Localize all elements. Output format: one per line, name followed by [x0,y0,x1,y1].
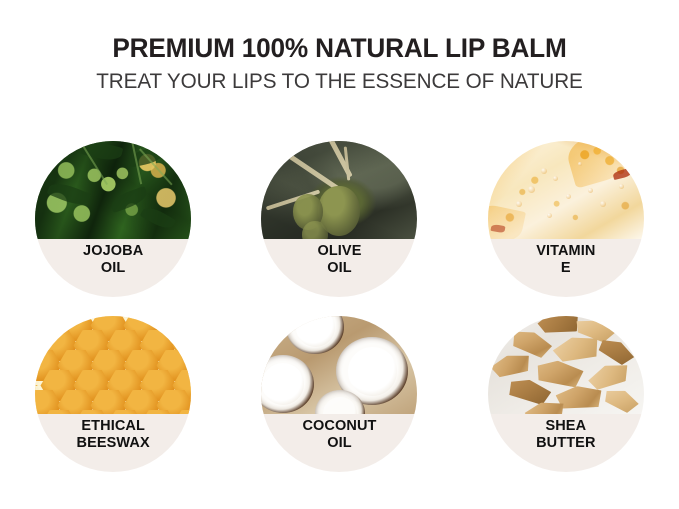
ingredient-badge-jojoba-oil: JOJOBA OIL [35,141,191,297]
jojoba-plant-photo [35,141,191,239]
ingredient-cell-olive-oil: OLIVE OIL [226,141,452,316]
ingredient-badge-vitamin-e: VITAMIN E [488,141,644,297]
ingredient-label-ethical-beeswax: ETHICAL BEESWAX [35,414,191,473]
shea-butter-chunks-photo [488,316,644,414]
ingredient-label-line2: BUTTER [536,435,595,453]
ingredient-badge-olive-oil: OLIVE OIL [261,141,417,297]
ingredient-cell-vitamin-e: VITAMIN E [453,141,679,316]
ingredient-cell-jojoba-oil: JOJOBA OIL [0,141,226,316]
ingredient-label-line2: E [561,260,571,278]
ingredient-label-line2: OIL [101,260,125,278]
ingredient-label-line1: COCONUT [302,418,376,436]
ingredient-label-jojoba-oil: JOJOBA OIL [35,239,191,298]
ingredient-label-line1: JOJOBA [83,243,143,261]
ingredient-badge-coconut-oil: COCONUT OIL [261,316,417,472]
ingredient-badge-ethical-beeswax: ETHICAL BEESWAX [35,316,191,472]
olive-fruit-photo [261,141,417,239]
ingredient-badge-shea-butter: SHEA BUTTER [488,316,644,472]
ingredient-label-shea-butter: SHEA BUTTER [488,414,644,473]
product-infographic: PREMIUM 100% NATURAL LIP BALM TREAT YOUR… [0,0,679,509]
ingredient-grid: JOJOBA OIL OLIVE OIL [0,141,679,491]
page-subtitle: TREAT YOUR LIPS TO THE ESSENCE OF NATURE [5,70,674,93]
ingredient-label-line2: OIL [327,435,351,453]
ingredient-cell-ethical-beeswax: ETHICAL BEESWAX [0,316,226,491]
ingredient-label-line1: SHEA [545,418,586,436]
ingredient-cell-shea-butter: SHEA BUTTER [453,316,679,491]
ingredient-label-line2: BEESWAX [77,435,150,453]
ingredient-label-line1: VITAMIN [536,243,595,261]
ingredient-label-line1: ETHICAL [81,418,145,436]
ingredient-label-line1: OLIVE [317,243,361,261]
ingredient-label-vitamin-e: VITAMIN E [488,239,644,298]
coconut-halves-photo [261,316,417,414]
page-title: PREMIUM 100% NATURAL LIP BALM [10,34,669,62]
ingredient-label-line2: OIL [327,260,351,278]
ingredient-cell-coconut-oil: COCONUT OIL [226,316,452,491]
header: PREMIUM 100% NATURAL LIP BALM TREAT YOUR… [0,34,679,93]
vitamin-e-oil-photo [488,141,644,239]
ingredient-label-olive-oil: OLIVE OIL [261,239,417,298]
honeycomb-photo [35,316,191,414]
ingredient-label-coconut-oil: COCONUT OIL [261,414,417,473]
